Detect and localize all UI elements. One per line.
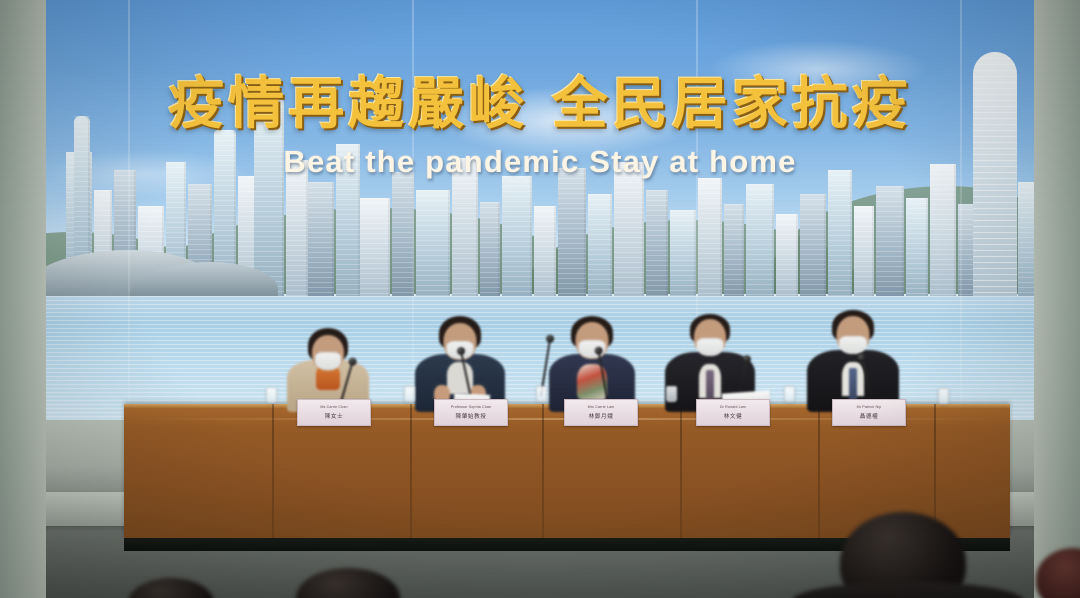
water-glass: [266, 387, 277, 403]
panelist-3: [548, 316, 636, 412]
ifc-tower: [973, 52, 1017, 302]
skyline-building: [416, 190, 450, 302]
nameplate-name-cn: 林鄭月娥: [589, 412, 614, 420]
skyline-building: [698, 178, 722, 302]
skyline-building: [336, 144, 360, 302]
skyline-building: [828, 170, 852, 302]
face-mask: [315, 352, 341, 370]
skyline-building: [614, 162, 644, 302]
cloud: [438, 86, 698, 156]
skyline-building: [800, 194, 826, 302]
skyline-building: [452, 158, 478, 302]
nameplate-1: Ms Carrie Chan 陳女士: [297, 399, 371, 426]
skyline-building: [876, 186, 904, 302]
skyline-building: [480, 202, 500, 302]
nameplate-name-en: Dr Ronald Lam: [720, 405, 746, 409]
nameplate-name-en: Mrs Carrie Lam: [588, 405, 615, 409]
skyline-building: [392, 172, 414, 302]
skyline-building: [360, 198, 390, 302]
skyline-building: [558, 168, 586, 302]
skyline-building: [308, 182, 334, 302]
water-glass: [938, 388, 949, 404]
stage-wall-right: [1034, 0, 1080, 598]
desk-seam: [818, 404, 820, 538]
nameplate-name-en: Professor Sophia Chan: [451, 405, 491, 409]
skyline-building: [776, 214, 798, 302]
skyline-building: [670, 210, 696, 302]
desk-seam: [410, 404, 412, 538]
nameplate-5: Mr Patrick Nip 聶德權: [832, 399, 906, 426]
desk-seam: [542, 404, 544, 538]
skyline-building: [930, 164, 956, 302]
nameplate-2: Professor Sophia Chan 陳肇始教授: [434, 399, 508, 426]
desk-seam: [272, 404, 274, 538]
cloud: [708, 40, 928, 98]
nameplate-3: Mrs Carrie Lam 林鄭月娥: [564, 399, 638, 426]
skyline-building: [502, 176, 532, 302]
skyline-building: [534, 206, 556, 302]
skyline-building: [854, 206, 874, 302]
nameplate-name-en: Ms Carrie Chan: [320, 405, 347, 409]
press-conference-scene: 疫情再趨嚴峻 全民居家抗疫 Beat the pandemic Stay at …: [0, 0, 1080, 598]
nameplate-name-cn: 聶德權: [860, 412, 879, 420]
water-glass: [536, 386, 547, 402]
face-mask: [697, 338, 724, 356]
skyline-building: [724, 204, 744, 302]
banner-seam: [960, 0, 962, 420]
nameplate-name-cn: 林文健: [724, 412, 743, 420]
stage-wall-left: [0, 0, 46, 598]
skyline-building: [646, 190, 668, 302]
skyline-building: [906, 198, 928, 302]
face-mask: [839, 336, 867, 354]
nameplate-name-cn: 陳肇始教授: [456, 412, 487, 420]
panelist-5: [806, 310, 900, 412]
banner-seam: [128, 0, 130, 420]
nameplate-4: Dr Ronald Lam 林文健: [696, 399, 770, 426]
nameplate-name-cn: 陳女士: [325, 412, 344, 420]
water-glass: [666, 386, 677, 402]
water-glass: [784, 386, 795, 402]
desk-seam: [680, 404, 682, 538]
backdrop-banner: [8, 0, 1072, 420]
nameplate-name-en: Mr Patrick Nip: [857, 405, 882, 409]
water-glass: [404, 386, 415, 402]
skyline-building: [746, 184, 774, 302]
skyline-building: [588, 194, 612, 302]
skyline-building: [286, 160, 308, 302]
